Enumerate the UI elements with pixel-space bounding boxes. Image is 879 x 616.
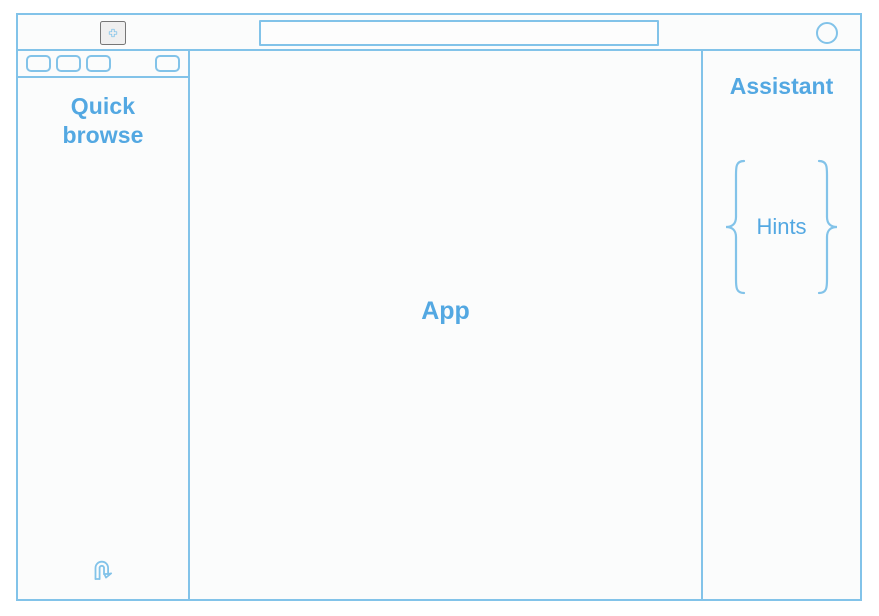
- wireframe-canvas: Quick browse App: [0, 0, 879, 616]
- main-body: Quick browse App: [18, 51, 860, 599]
- left-brace-icon: [720, 157, 750, 297]
- assistant-title: Assistant: [730, 73, 834, 100]
- hints-label: Hints: [752, 214, 810, 240]
- top-bar: [18, 15, 860, 51]
- undo-uturn-arrow-icon[interactable]: [88, 555, 118, 590]
- sidebar-tool-chip-3[interactable]: [86, 55, 111, 72]
- window-frame: Quick browse App: [16, 13, 862, 601]
- sidebar-footer: [18, 545, 188, 599]
- hints-block: Hints: [720, 157, 842, 297]
- circle-avatar-icon[interactable]: [816, 22, 838, 44]
- app-label: App: [421, 297, 470, 326]
- plus-icon-glyph: [108, 21, 118, 45]
- assistant-panel: Assistant Hints: [703, 51, 860, 599]
- quick-browse-title: Quick browse: [18, 92, 188, 151]
- app-content-area[interactable]: App: [190, 51, 703, 599]
- sidebar-tool-chip-2[interactable]: [56, 55, 81, 72]
- quick-browse-sidebar: Quick browse: [18, 51, 190, 599]
- right-brace-icon: [813, 157, 843, 297]
- undo-uturn-arrow-icon-glyph: [88, 555, 118, 585]
- sidebar-toolbar: [18, 51, 188, 78]
- plus-icon[interactable]: [100, 21, 126, 45]
- sidebar-tool-chip-right[interactable]: [155, 55, 180, 72]
- sidebar-content-area: [18, 151, 188, 545]
- address-input[interactable]: [259, 20, 659, 46]
- sidebar-tool-chip-1[interactable]: [26, 55, 51, 72]
